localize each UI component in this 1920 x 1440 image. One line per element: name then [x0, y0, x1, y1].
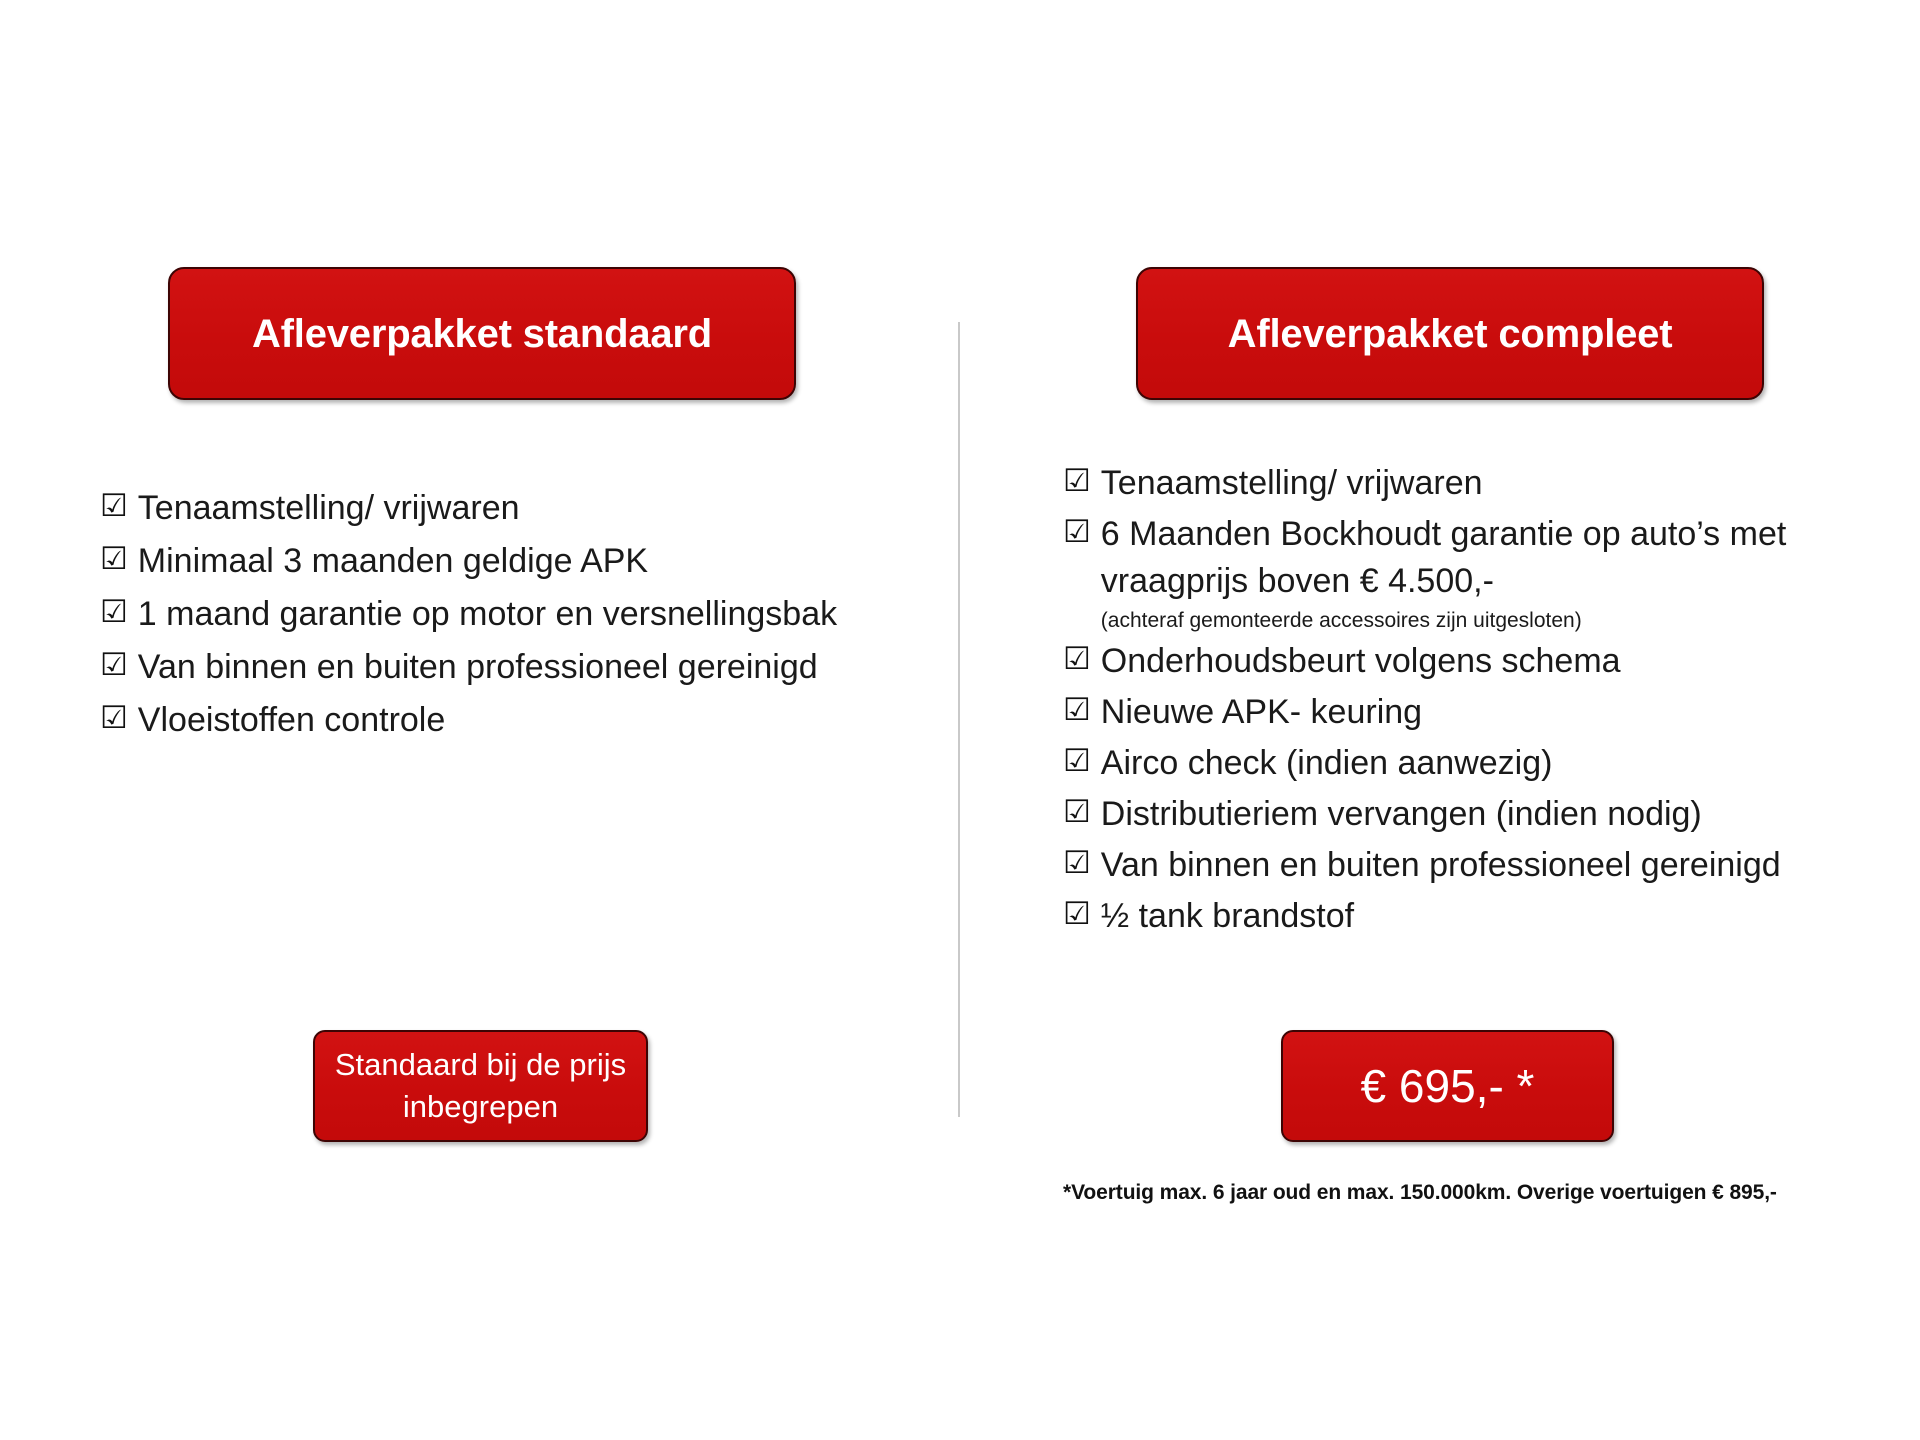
checkbox-checked-icon: ☑ [100, 591, 128, 634]
list-item-label: Van binnen en buiten professioneel gerei… [138, 644, 818, 691]
list-item: ☑ ½ tank brandstof [1063, 893, 1913, 940]
list-item-label: Van binnen en buiten professioneel gerei… [1101, 842, 1781, 889]
package-column-standaard: Afleverpakket standaard ☑ Tenaamstelling… [0, 0, 958, 1440]
package-title-badge-compleet: Afleverpakket compleet [1136, 267, 1764, 400]
checkbox-checked-icon: ☑ [1063, 893, 1091, 936]
price-badge-compleet: € 695,- * [1281, 1030, 1614, 1142]
checkbox-checked-icon: ☑ [1063, 460, 1091, 503]
checkbox-checked-icon: ☑ [100, 697, 128, 740]
checkbox-checked-icon: ☑ [1063, 511, 1091, 554]
package-title-compleet: Afleverpakket compleet [1228, 312, 1673, 356]
list-item: ☑ Van binnen en buiten professioneel ger… [100, 644, 890, 691]
package-title-standaard: Afleverpakket standaard [252, 312, 712, 356]
list-item: ☑ Tenaamstelling/ vrijwaren [1063, 460, 1913, 507]
list-item-label: 6 Maanden Bockhoudt garantie op auto’s m… [1101, 511, 1913, 634]
checkbox-checked-icon: ☑ [1063, 740, 1091, 783]
list-item-label: Onderhoudsbeurt volgens schema [1101, 638, 1621, 685]
feature-list-compleet: ☑ Tenaamstelling/ vrijwaren ☑ 6 Maanden … [1063, 460, 1913, 943]
list-item-label: Nieuwe APK- keuring [1101, 689, 1422, 736]
list-item: ☑ Van binnen en buiten professioneel ger… [1063, 842, 1913, 889]
list-item: ☑ Airco check (indien aanwezig) [1063, 740, 1913, 787]
checkbox-checked-icon: ☑ [1063, 842, 1091, 885]
list-item: ☑ Minimaal 3 maanden geldige APK [100, 538, 890, 585]
price-badge-label-standaard: Standaard bij de prijs inbegrepen [329, 1044, 632, 1128]
checkbox-checked-icon: ☑ [100, 538, 128, 581]
slide-root: Afleverpakket standaard ☑ Tenaamstelling… [0, 0, 1920, 1440]
list-item: ☑ Distributieriem vervangen (indien nodi… [1063, 791, 1913, 838]
list-item-note: (achteraf gemonteerde accessoires zijn u… [1101, 607, 1913, 634]
price-footnote: *Voertuig max. 6 jaar oud en max. 150.00… [1063, 1181, 1920, 1205]
checkbox-checked-icon: ☑ [100, 644, 128, 687]
list-item-label: Tenaamstelling/ vrijwaren [138, 485, 520, 532]
list-item-label: Tenaamstelling/ vrijwaren [1101, 460, 1483, 507]
checkbox-checked-icon: ☑ [1063, 689, 1091, 732]
list-item-label: 1 maand garantie op motor en versnelling… [138, 591, 837, 638]
list-item: ☑ 6 Maanden Bockhoudt garantie op auto’s… [1063, 511, 1913, 634]
checkbox-checked-icon: ☑ [100, 485, 128, 528]
list-item: ☑ 1 maand garantie op motor en versnelli… [100, 591, 890, 638]
feature-list-standaard: ☑ Tenaamstelling/ vrijwaren ☑ Minimaal 3… [100, 485, 890, 750]
list-item: ☑ Nieuwe APK- keuring [1063, 689, 1913, 736]
list-item-label: Airco check (indien aanwezig) [1101, 740, 1553, 787]
price-badge-standaard: Standaard bij de prijs inbegrepen [313, 1030, 648, 1142]
list-item-label: Vloeistoffen controle [138, 697, 445, 744]
list-item-label: Minimaal 3 maanden geldige APK [138, 538, 648, 585]
package-title-badge-standaard: Afleverpakket standaard [168, 267, 796, 400]
list-item: ☑ Vloeistoffen controle [100, 697, 890, 744]
list-item-label: ½ tank brandstof [1101, 893, 1354, 940]
list-item: ☑ Onderhoudsbeurt volgens schema [1063, 638, 1913, 685]
checkbox-checked-icon: ☑ [1063, 638, 1091, 681]
list-item: ☑ Tenaamstelling/ vrijwaren [100, 485, 890, 532]
list-item-text: 6 Maanden Bockhoudt garantie op auto’s m… [1101, 515, 1787, 600]
list-item-label: Distributieriem vervangen (indien nodig) [1101, 791, 1702, 838]
price-badge-label-compleet: € 695,- * [1361, 1061, 1535, 1112]
checkbox-checked-icon: ☑ [1063, 791, 1091, 834]
